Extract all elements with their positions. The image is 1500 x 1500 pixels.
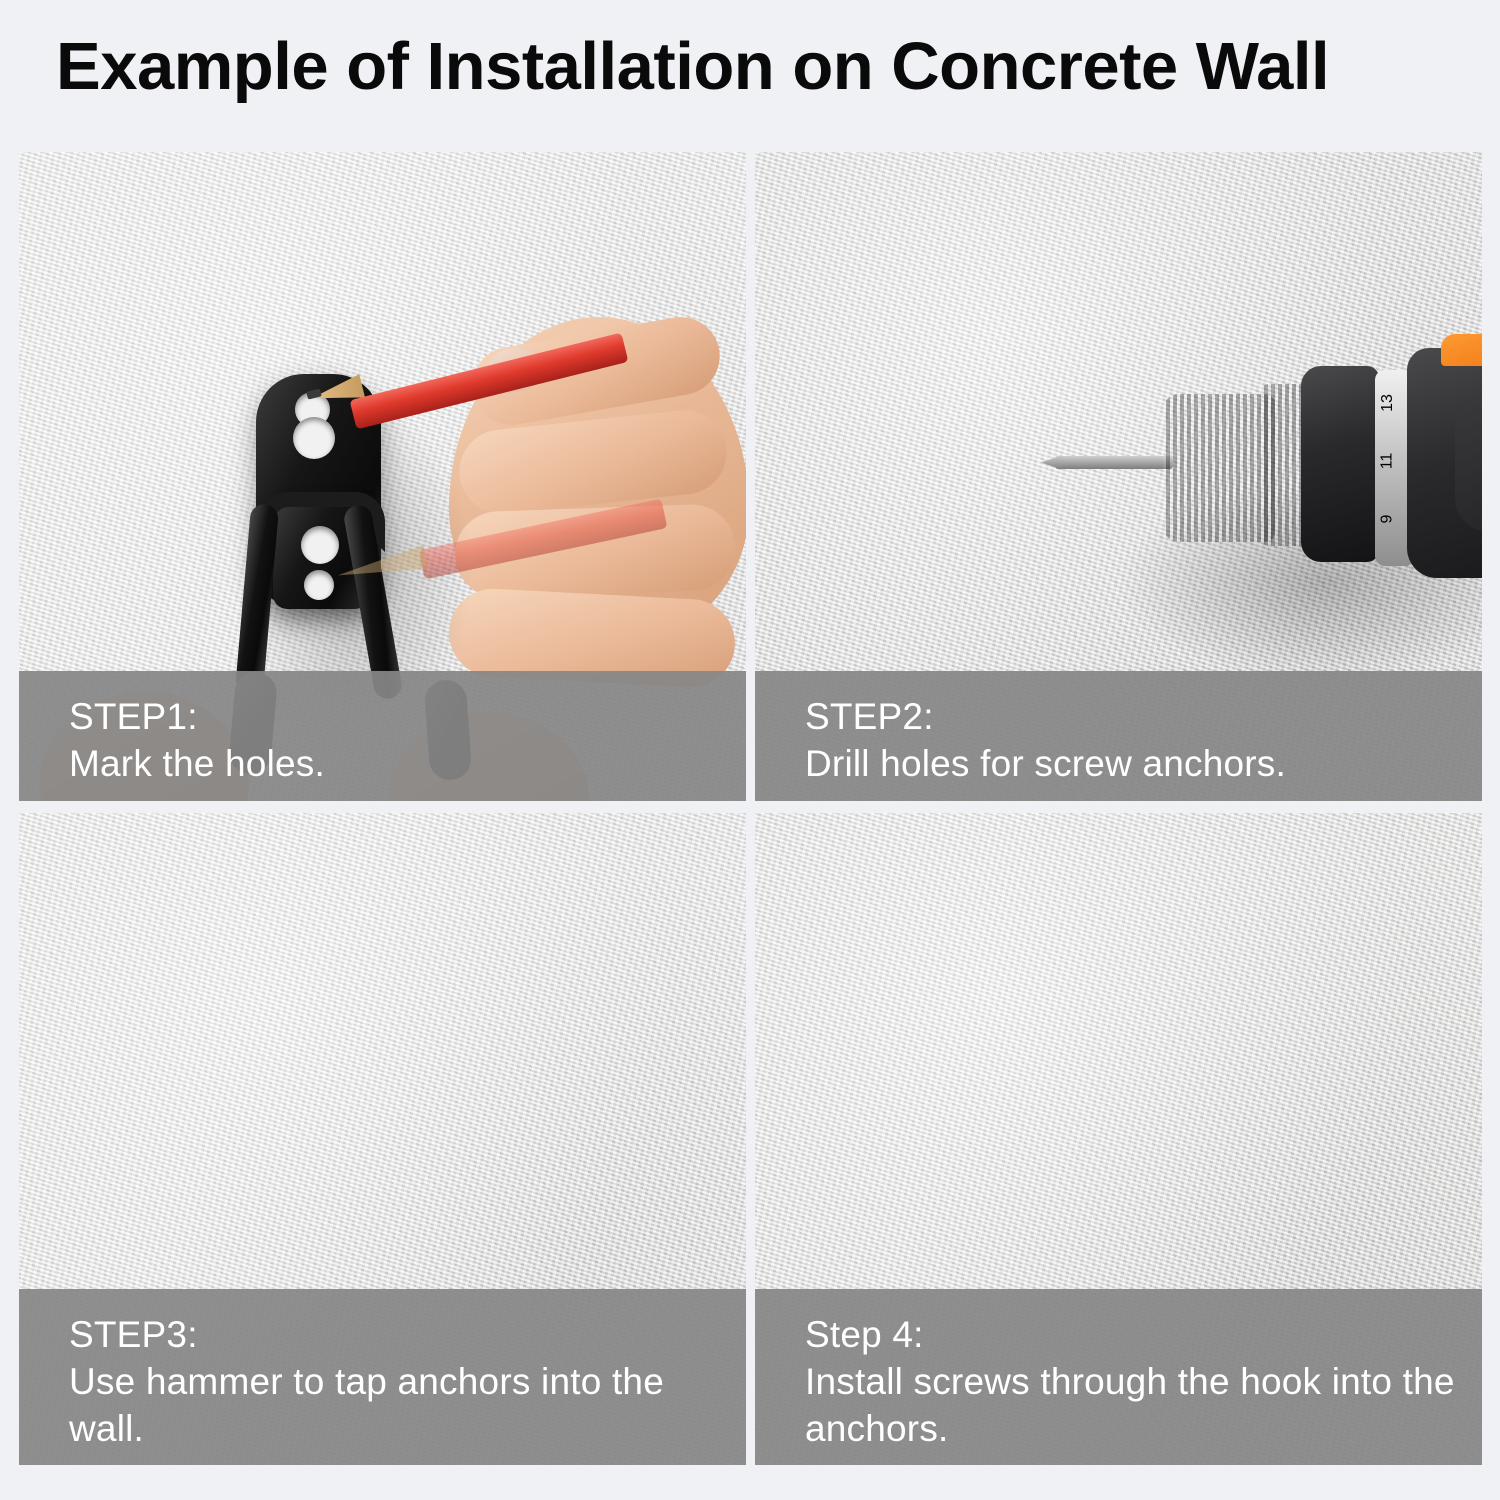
step1-label: STEP1: [69,693,746,740]
step4-label: Step 4: [805,1311,1482,1358]
installation-steps-grid: STEP1: Mark the holes. 13 11 9 [19,152,1482,1465]
step4-caption: Step 4: Install screws through the hook … [755,1289,1482,1465]
step2-label: STEP2: [805,693,1482,740]
drill-top-accent [1441,334,1482,366]
step2-caption: STEP2: Drill holes for screw anchors. [755,671,1482,801]
collar-number-9: 9 [1378,515,1396,524]
step3-caption: STEP3: Use hammer to tap anchors into th… [19,1289,746,1465]
mounting-hole [293,417,335,459]
step3-text: Use hammer to tap anchors into the wall. [69,1358,746,1452]
step-panel-3: STEP3: Use hammer to tap anchors into th… [19,813,746,1465]
drill-body [1301,366,1379,562]
step4-text: Install screws through the hook into the… [805,1358,1482,1452]
mounting-hole [304,570,334,600]
step1-caption: STEP1: Mark the holes. [19,671,746,801]
page-title: Example of Installation on Concrete Wall [56,33,1329,100]
step1-text: Mark the holes. [69,740,746,787]
drill-bit [1055,456,1173,469]
step-panel-4: Step 4: Install screws through the hook … [755,813,1482,1465]
step2-text: Drill holes for screw anchors. [805,740,1482,787]
collar-number-11: 11 [1378,453,1396,470]
step-panel-1: STEP1: Mark the holes. [19,152,746,801]
collar-number-13: 13 [1379,394,1397,412]
drill-chuck [1163,394,1275,542]
step3-label: STEP3: [69,1311,746,1358]
step-panel-2: 13 11 9 STEP2: Drill holes for screw anc… [755,152,1482,801]
drill-grip-panel [1455,392,1482,532]
